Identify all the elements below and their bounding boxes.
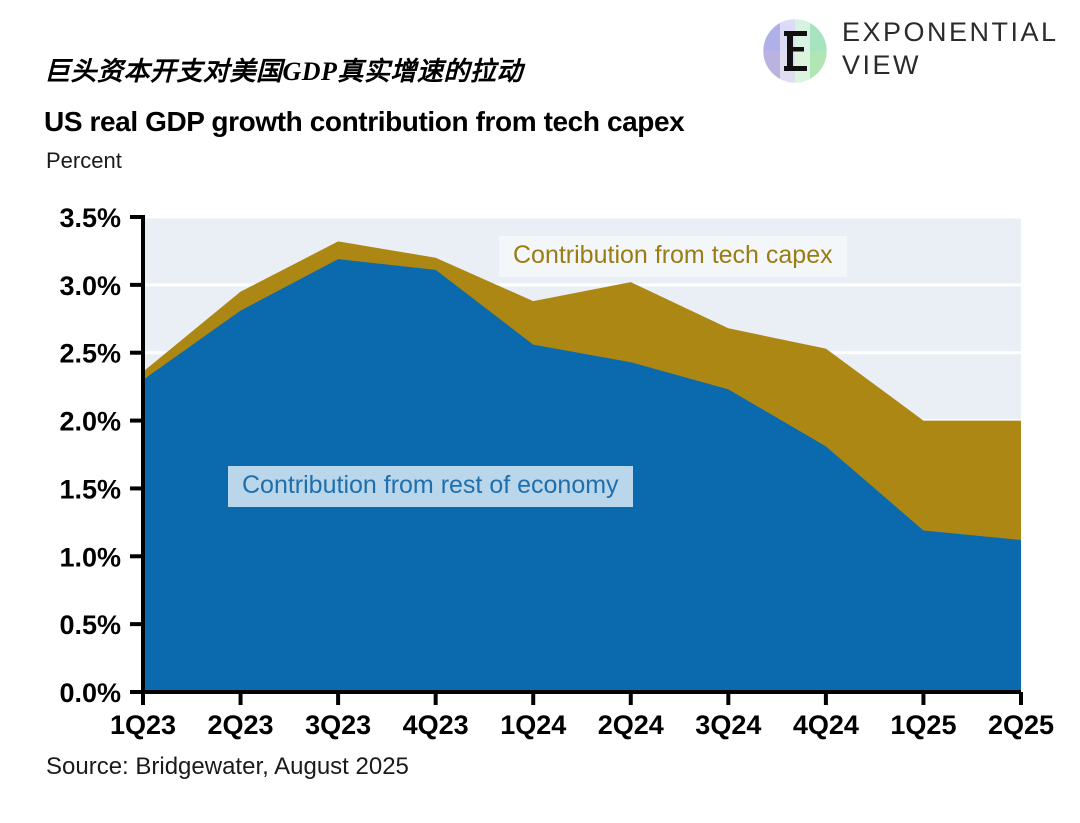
x-axis-tick-label: 3Q23 [305, 710, 371, 740]
y-axis-tick-label: 3.5% [59, 203, 121, 233]
x-axis-tick-label: 4Q23 [403, 710, 469, 740]
x-axis-tick-label: 1Q24 [500, 710, 566, 740]
x-axis-tick-label: 2Q24 [598, 710, 664, 740]
x-axis-tick-label: 4Q24 [793, 710, 859, 740]
y-axis-tick-label: 0.5% [59, 610, 121, 640]
area-chart: 0.0%0.5%1.0%1.5%2.0%2.5%3.0%3.5% 1Q232Q2… [0, 0, 1080, 823]
y-axis-tick-label: 2.0% [59, 407, 121, 437]
legend-tech-capex: Contribution from tech capex [499, 236, 847, 277]
y-axis-tick-label: 1.0% [59, 542, 121, 572]
x-axis-tick-label: 1Q23 [110, 710, 176, 740]
x-axis-tick-labels: 1Q232Q233Q234Q231Q242Q243Q244Q241Q252Q25 [110, 710, 1054, 740]
y-axis-tick-label: 0.0% [59, 678, 121, 708]
x-axis-tick-label: 3Q24 [695, 710, 761, 740]
x-axis-tick-label: 2Q25 [988, 710, 1054, 740]
y-axis-tick-labels: 0.0%0.5%1.0%1.5%2.0%2.5%3.0%3.5% [59, 203, 121, 708]
source-note: Source: Bridgewater, August 2025 [46, 753, 409, 781]
chart-canvas: 0.0%0.5%1.0%1.5%2.0%2.5%3.0%3.5% 1Q232Q2… [0, 0, 1080, 823]
x-axis-tick-label: 2Q23 [208, 710, 274, 740]
y-axis-tick-label: 3.0% [59, 271, 121, 301]
x-axis-tick-label: 1Q25 [890, 710, 956, 740]
y-axis-tick-label: 1.5% [59, 474, 121, 504]
legend-rest-of-economy: Contribution from rest of economy [228, 466, 633, 507]
y-axis-tick-label: 2.5% [59, 339, 121, 369]
